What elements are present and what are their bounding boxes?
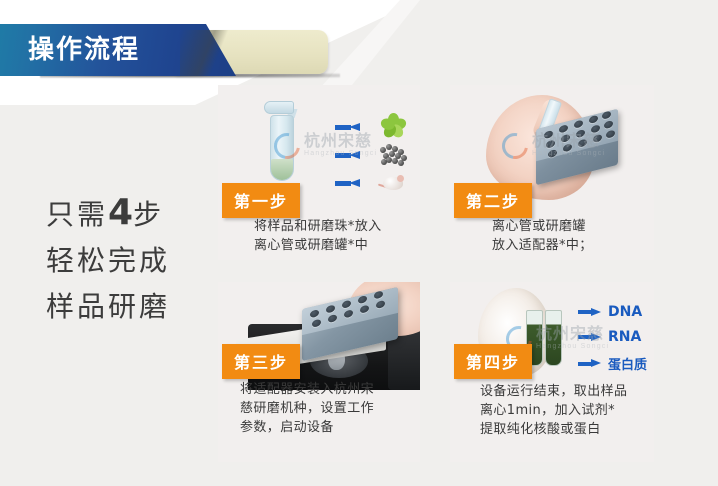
output-label-dna-text: DNA	[608, 304, 642, 320]
headline-block: 只需4步 轻松完成 样品研磨	[46, 190, 170, 330]
animal-tissue-sample-icon	[378, 171, 408, 197]
step-2-description: 离心管或研磨罐 放入适配器*中；	[492, 217, 672, 255]
step-2-description-line-1: 离心管或研磨罐	[492, 217, 672, 236]
infographic-page: 操作流程 只需4步 轻松完成 样品研磨	[0, 0, 718, 486]
arrow-right-icon	[578, 308, 602, 317]
headline-line-2: 轻松完成	[46, 238, 170, 284]
step-2-badge: 第二步	[454, 183, 532, 218]
step-4-badge: 第四步	[454, 344, 532, 379]
headline-line-1-prefix: 只需	[46, 198, 108, 231]
step-3-description-line-1: 将适配器安装入杭州宋	[240, 380, 440, 399]
result-tube-icon	[545, 310, 562, 366]
header-banner: 操作流程	[0, 24, 340, 80]
arrow-left-icon	[335, 151, 361, 160]
output-label-dna: DNA	[578, 304, 642, 320]
tube-liquid	[271, 159, 293, 180]
step-card-2: 杭州宋慈 Hangzhou Songci 第二步 离心管或研磨罐 放入适配器*中…	[450, 85, 654, 260]
step-1-badge: 第一步	[222, 183, 300, 218]
step-4-description-line-3: 提取纯化核酸或蛋白	[480, 420, 675, 439]
headline-line-1: 只需4步	[46, 190, 170, 238]
output-label-protein: 蛋白质	[578, 354, 647, 373]
centrifuge-tube-icon	[264, 97, 298, 185]
step-card-1: 杭州宋慈 Hangzhou Songci 第一步 将样品和研磨珠*放入 离心管或…	[218, 85, 420, 260]
step-3-description: 将适配器安装入杭州宋 慈研磨机种，设置工作 参数，启动设备	[240, 380, 440, 437]
output-label-protein-text: 蛋白质	[608, 354, 647, 373]
adapter-top-face	[302, 287, 398, 335]
headline-line-1-suffix: 步	[133, 198, 164, 231]
step-4-description-line-2: 离心1min，加入试剂*	[480, 401, 675, 420]
tube-lid	[264, 101, 294, 114]
step-4-description: 设备运行结束，取出样品 离心1min，加入试剂* 提取纯化核酸或蛋白	[480, 382, 675, 439]
step-4-description-line-1: 设备运行结束，取出样品	[480, 382, 675, 401]
arrow-right-icon	[578, 333, 602, 342]
step-3-description-line-3: 参数，启动设备	[240, 418, 440, 437]
step-1-description: 将样品和研磨珠*放入 离心管或研磨罐*中	[254, 217, 434, 255]
output-label-rna-text: RNA	[608, 329, 641, 345]
arrow-right-icon	[578, 359, 602, 368]
arrow-left-icon	[335, 179, 361, 188]
step-3-badge: 第三步	[222, 344, 300, 379]
headline-step-count: 4	[108, 192, 133, 233]
grinding-beads-icon	[378, 141, 408, 167]
step-3-description-line-2: 慈研磨机种，设置工作	[240, 399, 440, 418]
output-label-rna: RNA	[578, 329, 641, 345]
step-card-4: DNA RNA 蛋白质 杭州宋慈 Hangzhou Songci 第四步 设备运…	[450, 282, 654, 462]
step-1-description-line-2: 离心管或研磨罐*中	[254, 236, 434, 255]
watermark-text-cn: 杭州宋慈	[304, 133, 377, 149]
mouse-ear	[397, 175, 404, 182]
step-card-3: 第三步 将适配器安装入杭州宋 慈研磨机种，设置工作 参数，启动设备	[218, 282, 420, 462]
plant-leaf-sample-icon	[378, 113, 408, 139]
step-2-description-line-2: 放入适配器*中；	[492, 236, 672, 255]
page-title: 操作流程	[28, 33, 140, 67]
arrow-left-icon	[335, 123, 361, 132]
step-1-description-line-1: 将样品和研磨珠*放入	[254, 217, 434, 236]
headline-line-3: 样品研磨	[46, 284, 170, 330]
